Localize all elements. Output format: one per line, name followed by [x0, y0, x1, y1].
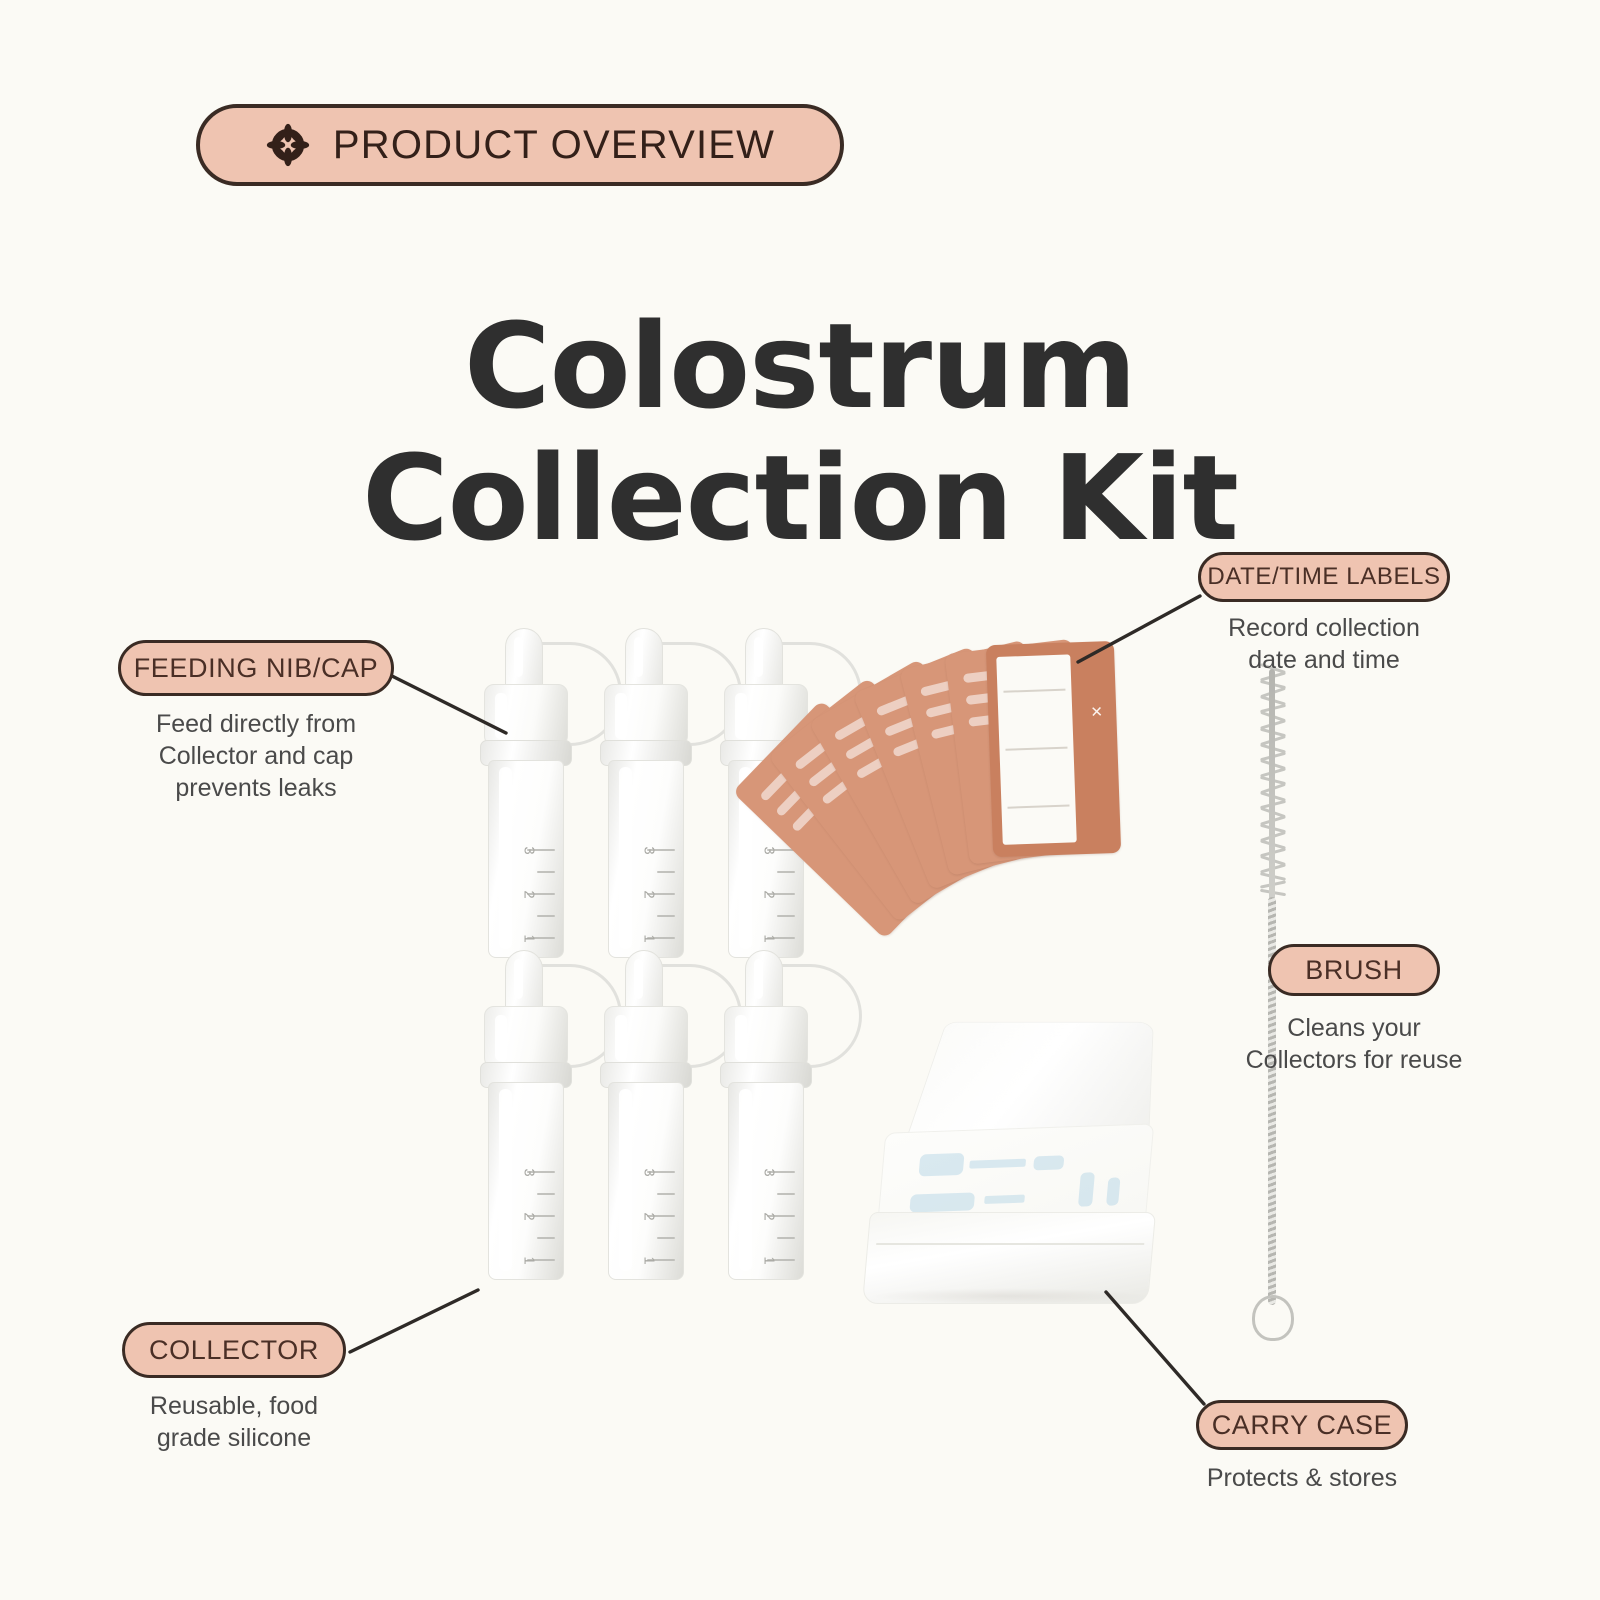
annotation-desc-carry-case: Protects & stores	[1180, 1462, 1424, 1494]
title-line-2: Collection Kit	[0, 432, 1600, 564]
annotation-pill-date-time-labels: DATE/TIME LABELS	[1198, 552, 1450, 602]
annotation-desc-date-time-labels: Record collection date and time	[1192, 612, 1456, 676]
leader-line-feeding-nib	[392, 676, 506, 733]
title-line-1: Colostrum	[464, 297, 1136, 435]
annotation-label: FEEDING NIB/CAP	[134, 653, 379, 684]
annotation-desc-brush: Cleans your Collectors for reuse	[1228, 1012, 1480, 1076]
product-overview-infographic: PRODUCT OVERVIEW Colostrum Collection Ki…	[0, 0, 1600, 1600]
annotation-label: DATE/TIME LABELS	[1207, 563, 1440, 591]
annotation-desc-collector: Reusable, food grade silicone	[110, 1390, 358, 1454]
annotation-label: CARRY CASE	[1212, 1410, 1393, 1441]
annotation-pill-carry-case: CARRY CASE	[1196, 1400, 1408, 1450]
annotation-label: COLLECTOR	[149, 1335, 319, 1366]
annotation-desc-feeding-nib-cap: Feed directly from Collector and cap pre…	[118, 708, 394, 804]
leader-line-collector	[350, 1290, 478, 1352]
leader-line-date-time	[1078, 596, 1200, 662]
annotation-pill-brush: BRUSH	[1268, 944, 1440, 996]
annotation-pill-feeding-nib-cap: FEEDING NIB/CAP	[118, 640, 394, 696]
badge-label: PRODUCT OVERVIEW	[333, 123, 775, 168]
annotation-label: BRUSH	[1305, 955, 1403, 986]
flower-asterisk-icon	[265, 122, 311, 168]
annotation-pill-collector: COLLECTOR	[122, 1322, 346, 1378]
page-title: Colostrum Collection Kit	[0, 300, 1600, 564]
product-overview-badge: PRODUCT OVERVIEW	[196, 104, 844, 186]
leader-line-carry-case	[1106, 1292, 1204, 1404]
